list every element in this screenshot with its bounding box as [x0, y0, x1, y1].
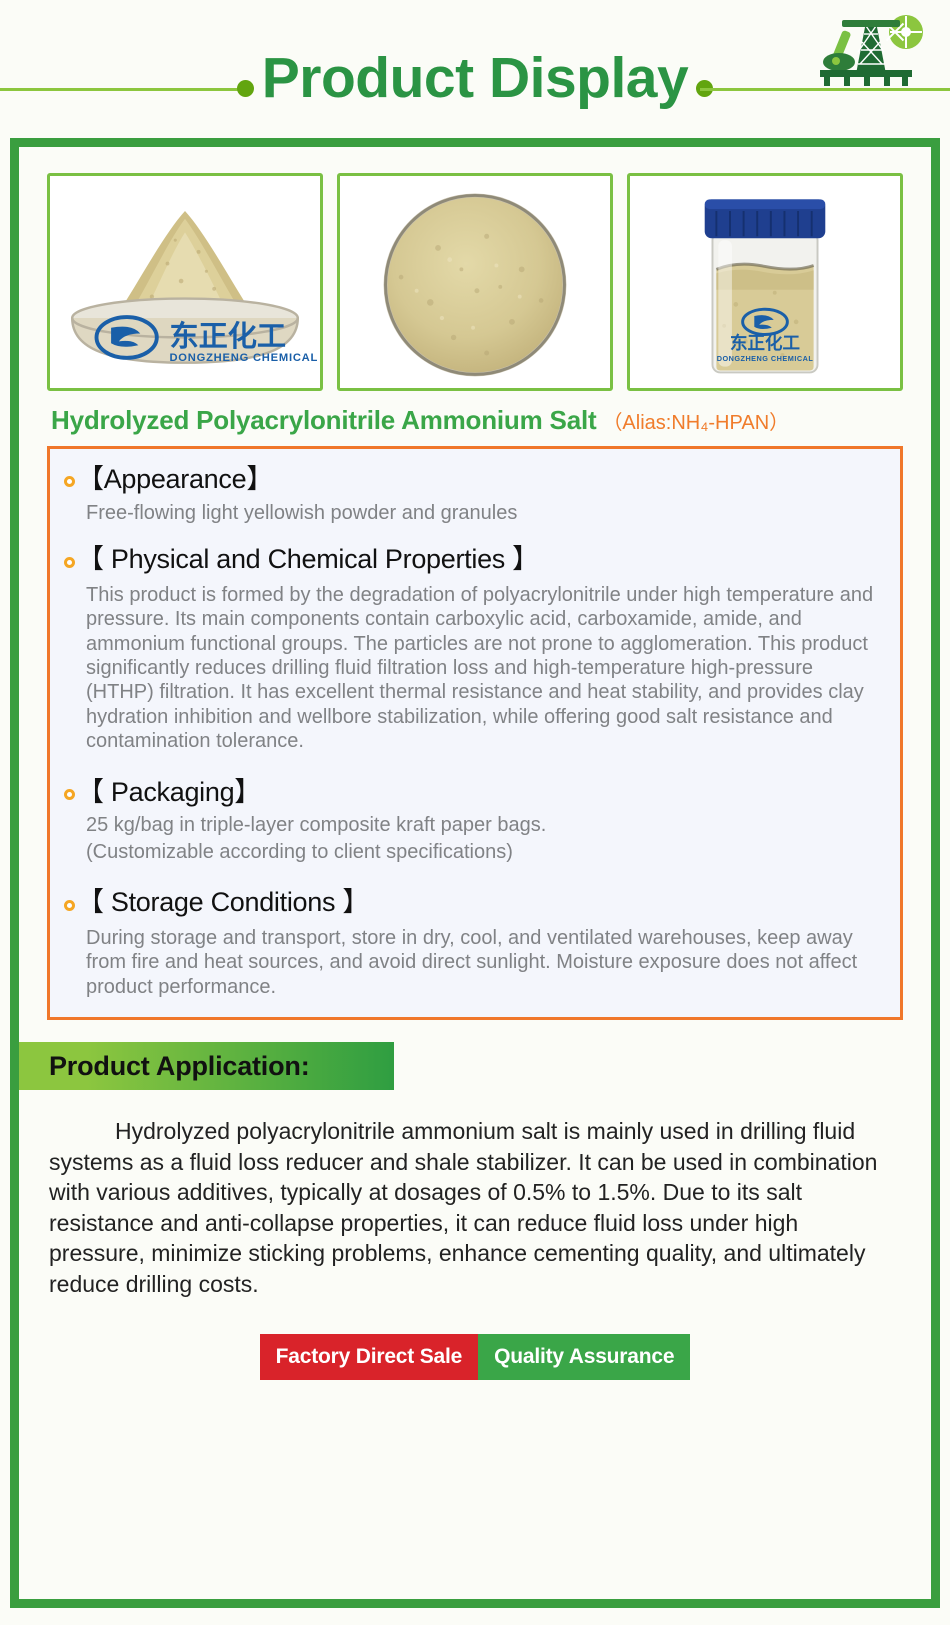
- svg-text:DONGZHENG CHEMICAL: DONGZHENG CHEMICAL: [169, 352, 318, 364]
- spec-line: This product is formed by the degradatio…: [86, 583, 878, 754]
- product-application-banner: Product Application:: [19, 1042, 394, 1090]
- page-title: Product Display: [0, 50, 950, 107]
- product-image-gallery: 东正化工 DONGZHENG CHEMICAL: [47, 173, 903, 391]
- spec-body-storage-conditions: During storage and transport, store in d…: [64, 926, 882, 999]
- product-alias: （Alias:NH₄-HPAN）: [602, 406, 789, 435]
- spec-body-packaging: 25 kg/bag in triple-layer composite kraf…: [64, 813, 882, 864]
- spec-title-appearance: 【Appearance】: [77, 463, 273, 497]
- bullet-icon: [64, 557, 75, 568]
- spacer: [64, 866, 882, 886]
- product-image-powder-in-jar[interactable]: 东正化工 DONGZHENG CHEMICAL: [627, 173, 903, 391]
- specification-panel: 【Appearance】 Free-flowing light yellowis…: [47, 446, 903, 1020]
- badge-factory-direct-sale: Factory Direct Sale: [260, 1334, 478, 1380]
- page-header: Product Display: [0, 0, 950, 132]
- spec-title-packaging: 【 Packaging】: [77, 776, 261, 810]
- spacer: [64, 527, 882, 543]
- bullet-icon: [64, 900, 75, 911]
- product-name: Hydrolyzed Polyacrylonitrile Ammonium Sa…: [51, 405, 596, 436]
- spec-body-physical-chemical-properties: This product is formed by the degradatio…: [64, 583, 882, 754]
- product-image-powder-in-petri-dish[interactable]: 东正化工 DONGZHENG CHEMICAL: [47, 173, 323, 391]
- spec-section-appearance: 【Appearance】 Free-flowing light yellowis…: [64, 463, 882, 525]
- spec-line: 25 kg/bag in triple-layer composite kraf…: [86, 813, 878, 837]
- product-image-powder-top-view[interactable]: [337, 173, 613, 391]
- spec-title-storage-conditions: 【 Storage Conditions 】: [77, 886, 369, 920]
- svg-text:东正化工: 东正化工: [169, 319, 286, 353]
- spec-body-appearance: Free-flowing light yellowish powder and …: [64, 501, 882, 525]
- content-card: 东正化工 DONGZHENG CHEMICAL: [10, 138, 940, 1608]
- product-application-label: Product Application:: [19, 1051, 310, 1082]
- spec-line: Free-flowing light yellowish powder and …: [86, 501, 878, 525]
- spec-title-physical-chemical-properties: 【 Physical and Chemical Properties 】: [77, 543, 539, 577]
- svg-text:东正化工: 东正化工: [730, 333, 800, 354]
- oil-derrick-icon: [814, 8, 932, 92]
- badge-quality-assurance: Quality Assurance: [478, 1334, 690, 1380]
- bullet-icon: [64, 789, 75, 800]
- product-application-paragraph: Hydrolyzed polyacrylonitrile ammonium sa…: [47, 1116, 903, 1299]
- bullet-icon: [64, 476, 75, 487]
- badge-row: Factory Direct Sale Quality Assurance: [47, 1334, 903, 1380]
- spec-line: (Customizable according to client specif…: [86, 840, 878, 864]
- spec-section-physical-chemical-properties: 【 Physical and Chemical Properties 】 Thi…: [64, 543, 882, 753]
- spec-section-packaging: 【 Packaging】 25 kg/bag in triple-layer c…: [64, 776, 882, 865]
- spacer: [64, 756, 882, 776]
- product-name-row: Hydrolyzed Polyacrylonitrile Ammonium Sa…: [47, 405, 903, 436]
- spec-section-storage-conditions: 【 Storage Conditions 】 During storage an…: [64, 886, 882, 999]
- spec-line: During storage and transport, store in d…: [86, 926, 878, 999]
- svg-text:DONGZHENG CHEMICAL: DONGZHENG CHEMICAL: [717, 354, 814, 363]
- product-display-page: Product Display: [0, 0, 950, 1625]
